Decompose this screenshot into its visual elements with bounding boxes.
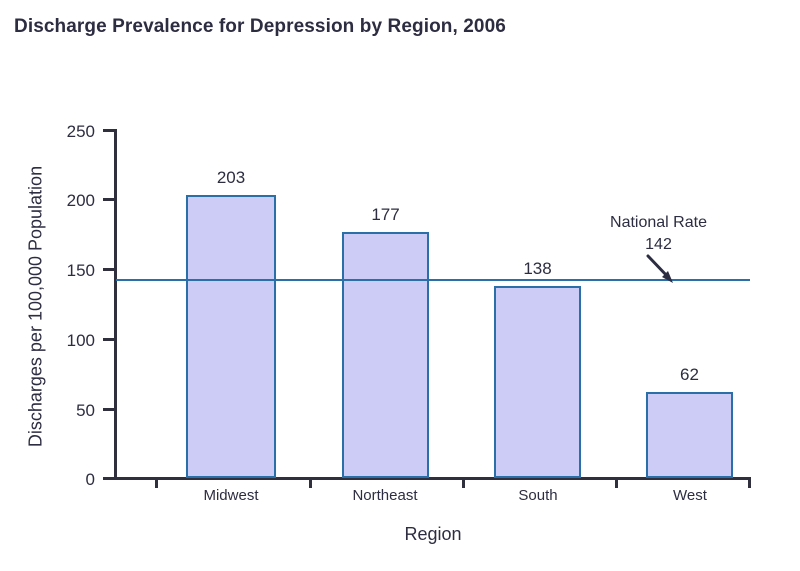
x-label-south: South bbox=[473, 487, 603, 504]
bar-value-midwest: 203 bbox=[186, 169, 276, 186]
bar-value-south: 138 bbox=[494, 260, 581, 277]
national-rate-label: National Rate bbox=[571, 212, 746, 234]
national-rate-annotation: National Rate 142 bbox=[571, 212, 746, 255]
x-label-west: West bbox=[625, 487, 755, 504]
x-axis-title: Region bbox=[116, 524, 750, 545]
y-tick-0 bbox=[103, 477, 116, 480]
bar-value-west: 62 bbox=[646, 366, 733, 383]
x-tick-3 bbox=[615, 478, 618, 488]
x-label-midwest: Midwest bbox=[166, 487, 296, 504]
bar-west[interactable] bbox=[646, 392, 733, 478]
y-axis-line bbox=[114, 129, 117, 480]
bar-midwest[interactable] bbox=[186, 195, 276, 478]
y-tick-100 bbox=[103, 338, 116, 341]
bar-south[interactable] bbox=[494, 286, 581, 478]
y-tick-200 bbox=[103, 198, 116, 201]
y-tick-150 bbox=[103, 268, 116, 271]
x-tick-0 bbox=[155, 478, 158, 488]
x-tick-2 bbox=[462, 478, 465, 488]
bar-value-northeast: 177 bbox=[342, 206, 429, 223]
y-tick-50 bbox=[103, 408, 116, 411]
bar-northeast[interactable] bbox=[342, 232, 429, 478]
x-label-northeast: Northeast bbox=[320, 487, 450, 504]
y-tick-250 bbox=[103, 129, 116, 132]
national-rate-value: 142 bbox=[571, 234, 746, 256]
arrow-icon bbox=[644, 253, 678, 285]
y-axis-title: Discharges per 100,000 Population bbox=[26, 127, 47, 487]
x-tick-1 bbox=[309, 478, 312, 488]
